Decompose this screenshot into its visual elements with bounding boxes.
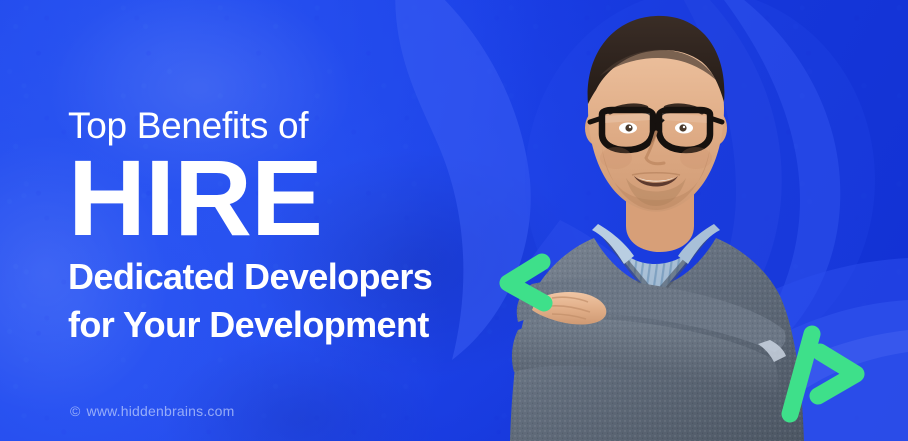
site-credit: © www.hiddenbrains.com	[70, 403, 234, 419]
headline-block: Top Benefits of HIRE Dedicated Developer…	[68, 104, 488, 346]
developer-photo	[474, 0, 834, 441]
headline-line-4: for Your Development	[68, 304, 488, 346]
hire-developers-banner: Top Benefits of HIRE Dedicated Developer…	[0, 0, 908, 441]
copyright-icon: ©	[70, 403, 81, 419]
headline-emphasis: HIRE	[68, 146, 488, 250]
credit-url: www.hiddenbrains.com	[87, 403, 235, 419]
headline-line-3: Dedicated Developers	[68, 256, 488, 298]
